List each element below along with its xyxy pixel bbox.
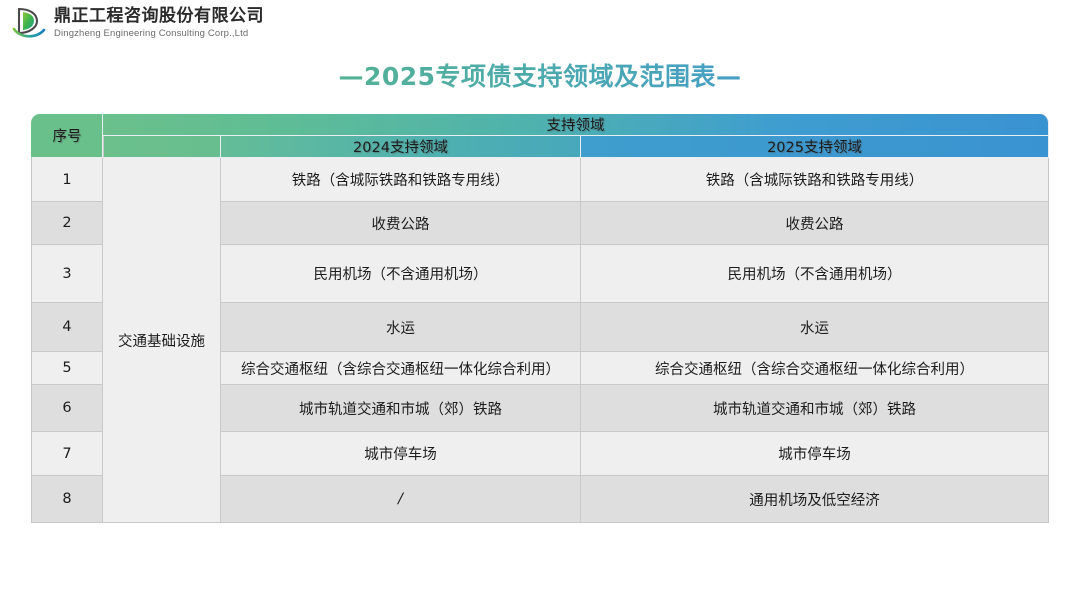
cell-seq: 1 <box>31 158 103 202</box>
support-scope-table: 序号 支持领域 2024支持领域 2025支持领域 1 交通基础设施 铁路（含城… <box>31 114 1049 523</box>
cell-seq: 8 <box>31 476 103 523</box>
cell-scope-2024: / <box>221 476 581 523</box>
header-seq: 序号 <box>31 114 103 158</box>
cell-category: 交通基础设施 <box>103 158 221 523</box>
support-scope-table-container: 序号 支持领域 2024支持领域 2025支持领域 1 交通基础设施 铁路（含城… <box>31 114 1049 523</box>
table-header-row-2: 2024支持领域 2025支持领域 <box>31 136 1049 158</box>
brand-name-cn: 鼎正工程咨询股份有限公司 <box>54 8 264 25</box>
dingzheng-d-logo-icon <box>12 5 46 41</box>
cell-scope-2025: 城市轨道交通和市城（郊）铁路 <box>581 385 1049 432</box>
brand-header: 鼎正工程咨询股份有限公司 Dingzheng Engineering Consu… <box>0 0 1080 52</box>
cell-scope-2024: 民用机场（不含通用机场） <box>221 245 581 303</box>
table-body: 1 交通基础设施 铁路（含城际铁路和铁路专用线） 铁路（含城际铁路和铁路专用线）… <box>31 158 1049 523</box>
cell-scope-2025: 综合交通枢纽（含综合交通枢纽一体化综合利用） <box>581 352 1049 385</box>
cell-seq: 6 <box>31 385 103 432</box>
cell-scope-2024: 水运 <box>221 303 581 352</box>
cell-scope-2025: 通用机场及低空经济 <box>581 476 1049 523</box>
cell-scope-2025: 水运 <box>581 303 1049 352</box>
cell-seq: 7 <box>31 432 103 476</box>
header-scope-2024: 2024支持领域 <box>221 136 581 158</box>
cell-scope-2025: 收费公路 <box>581 202 1049 245</box>
cell-scope-2025: 铁路（含城际铁路和铁路专用线） <box>581 158 1049 202</box>
brand-lockup: 鼎正工程咨询股份有限公司 Dingzheng Engineering Consu… <box>12 5 264 41</box>
cell-scope-2024: 收费公路 <box>221 202 581 245</box>
cell-scope-2025: 民用机场（不含通用机场） <box>581 245 1049 303</box>
cell-scope-2025: 城市停车场 <box>581 432 1049 476</box>
cell-seq: 4 <box>31 303 103 352</box>
cell-seq: 2 <box>31 202 103 245</box>
cell-seq: 5 <box>31 352 103 385</box>
cell-scope-2024: 综合交通枢纽（含综合交通枢纽一体化综合利用） <box>221 352 581 385</box>
brand-text-block: 鼎正工程咨询股份有限公司 Dingzheng Engineering Consu… <box>54 8 264 39</box>
cell-scope-2024: 城市停车场 <box>221 432 581 476</box>
page-title: —2025专项债支持领域及范围表— <box>0 57 1080 93</box>
header-support-scope: 支持领域 <box>103 114 1049 136</box>
table-header-row-1: 序号 支持领域 <box>31 114 1049 136</box>
cell-scope-2024: 铁路（含城际铁路和铁路专用线） <box>221 158 581 202</box>
header-scope-2025: 2025支持领域 <box>581 136 1049 158</box>
table-header: 序号 支持领域 2024支持领域 2025支持领域 <box>31 114 1049 158</box>
cell-scope-2024: 城市轨道交通和市城（郊）铁路 <box>221 385 581 432</box>
brand-name-en: Dingzheng Engineering Consulting Corp.,L… <box>54 29 264 39</box>
header-category-blank <box>103 136 221 158</box>
cell-seq: 3 <box>31 245 103 303</box>
table-row: 1 交通基础设施 铁路（含城际铁路和铁路专用线） 铁路（含城际铁路和铁路专用线） <box>31 158 1049 202</box>
